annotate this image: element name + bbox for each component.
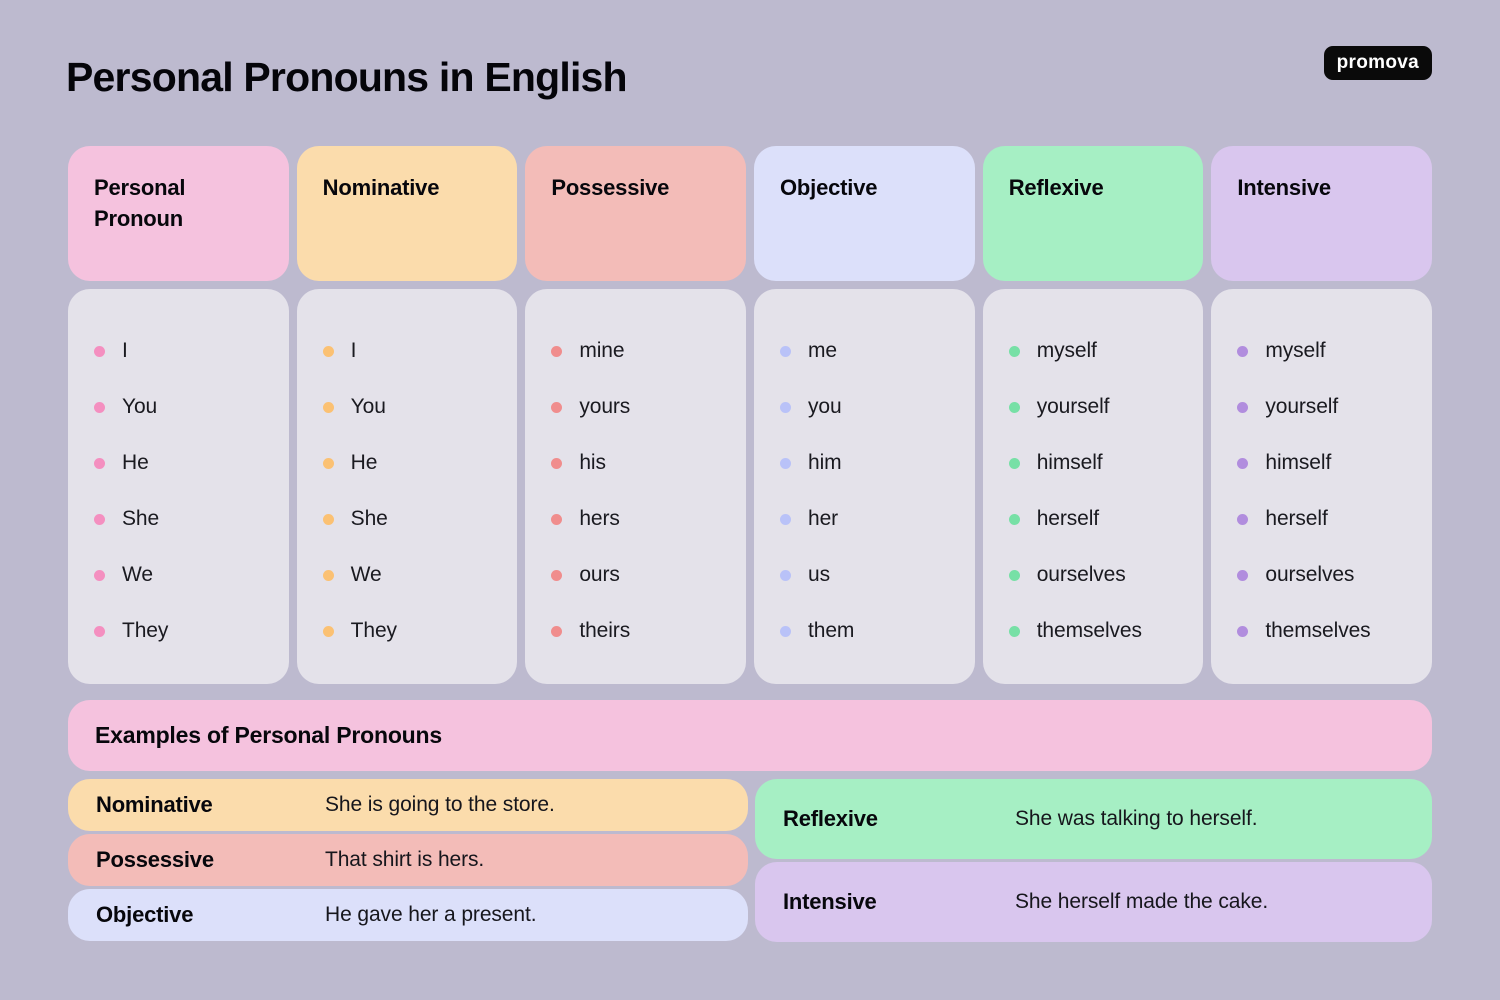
pronoun-label: themselves: [1265, 619, 1370, 643]
examples-column-left: NominativeShe is going to the store.Poss…: [68, 779, 748, 941]
example-category-label: Intensive: [783, 889, 1015, 915]
column-body: IYouHeSheWeThey: [68, 289, 289, 684]
list-item: yourself: [1009, 379, 1204, 435]
table-column: Possessivemineyourshishersourstheirs: [525, 146, 746, 684]
list-item: herself: [1009, 491, 1204, 547]
pronoun-label: himself: [1037, 451, 1103, 475]
bullet-dot-icon: [551, 402, 562, 413]
pronoun-label: him: [808, 451, 842, 475]
example-sentence: She was talking to herself.: [1015, 807, 1257, 831]
bullet-dot-icon: [323, 570, 334, 581]
pronoun-label: me: [808, 339, 837, 363]
example-row: PossessiveThat shirt is hers.: [68, 834, 748, 886]
bullet-dot-icon: [1237, 570, 1248, 581]
bullet-dot-icon: [1237, 402, 1248, 413]
column-body: myselfyourselfhimselfherselfourselvesthe…: [1211, 289, 1432, 684]
bullet-dot-icon: [1009, 402, 1020, 413]
list-item: ourselves: [1009, 547, 1204, 603]
bullet-dot-icon: [780, 626, 791, 637]
list-item: hers: [551, 491, 746, 547]
list-item: me: [780, 323, 975, 379]
pronoun-label: yours: [579, 395, 630, 419]
example-row: ReflexiveShe was talking to herself.: [755, 779, 1432, 859]
bullet-dot-icon: [94, 570, 105, 581]
pronoun-table: Personal PronounIYouHeSheWeTheyNominativ…: [68, 146, 1432, 684]
list-item: mine: [551, 323, 746, 379]
bullet-dot-icon: [551, 570, 562, 581]
list-item: themselves: [1237, 603, 1432, 659]
pronoun-label: I: [351, 339, 357, 363]
bullet-dot-icon: [323, 458, 334, 469]
pronoun-label: He: [351, 451, 378, 475]
bullet-dot-icon: [94, 514, 105, 525]
example-row: IntensiveShe herself made the cake.: [755, 862, 1432, 942]
list-item: They: [323, 603, 518, 659]
pronoun-label: herself: [1037, 507, 1099, 531]
bullet-dot-icon: [323, 346, 334, 357]
pronoun-label: You: [122, 395, 157, 419]
examples-banner: Examples of Personal Pronouns: [68, 700, 1432, 771]
bullet-dot-icon: [94, 402, 105, 413]
list-item: You: [323, 379, 518, 435]
pronoun-label: himself: [1265, 451, 1331, 475]
list-item: myself: [1009, 323, 1204, 379]
list-item: I: [94, 323, 289, 379]
bullet-dot-icon: [94, 626, 105, 637]
page-title: Personal Pronouns in English: [66, 54, 627, 101]
bullet-dot-icon: [780, 514, 791, 525]
pronoun-label: yourself: [1037, 395, 1110, 419]
table-column: NominativeIYouHeSheWeThey: [297, 146, 518, 684]
example-category-label: Nominative: [96, 792, 325, 818]
pronoun-label: yourself: [1265, 395, 1338, 419]
bullet-dot-icon: [94, 458, 105, 469]
list-item: them: [780, 603, 975, 659]
list-item: her: [780, 491, 975, 547]
column-body: myselfyourselfhimselfherselfourselvesthe…: [983, 289, 1204, 684]
pronoun-label: you: [808, 395, 842, 419]
table-column: Reflexivemyselfyourselfhimselfherselfour…: [983, 146, 1204, 684]
column-header: Personal Pronoun: [68, 146, 289, 281]
table-column: Intensivemyselfyourselfhimselfherselfour…: [1211, 146, 1432, 684]
pronoun-label: hers: [579, 507, 619, 531]
list-item: They: [94, 603, 289, 659]
bullet-dot-icon: [1009, 458, 1020, 469]
example-sentence: She herself made the cake.: [1015, 890, 1268, 914]
list-item: yours: [551, 379, 746, 435]
bullet-dot-icon: [780, 402, 791, 413]
pronoun-label: theirs: [579, 619, 630, 643]
column-header: Intensive: [1211, 146, 1432, 281]
list-item: himself: [1009, 435, 1204, 491]
pronoun-label: They: [122, 619, 168, 643]
infographic-page: Personal Pronouns in English promova Per…: [0, 0, 1500, 1000]
promova-logo: promova: [1324, 46, 1432, 80]
column-body: IYouHeSheWeThey: [297, 289, 518, 684]
list-item: his: [551, 435, 746, 491]
list-item: herself: [1237, 491, 1432, 547]
bullet-dot-icon: [1009, 626, 1020, 637]
bullet-dot-icon: [323, 626, 334, 637]
pronoun-label: He: [122, 451, 149, 475]
list-item: We: [323, 547, 518, 603]
bullet-dot-icon: [1237, 626, 1248, 637]
list-item: themselves: [1009, 603, 1204, 659]
list-item: you: [780, 379, 975, 435]
list-item: We: [94, 547, 289, 603]
pronoun-label: myself: [1265, 339, 1325, 363]
bullet-dot-icon: [551, 346, 562, 357]
bullet-dot-icon: [323, 402, 334, 413]
list-item: You: [94, 379, 289, 435]
bullet-dot-icon: [780, 458, 791, 469]
list-item: myself: [1237, 323, 1432, 379]
pronoun-label: We: [351, 563, 382, 587]
list-item: I: [323, 323, 518, 379]
pronoun-label: mine: [579, 339, 624, 363]
example-category-label: Reflexive: [783, 806, 1015, 832]
example-category-label: Objective: [96, 902, 325, 928]
column-header: Possessive: [525, 146, 746, 281]
bullet-dot-icon: [1237, 346, 1248, 357]
pronoun-label: ourselves: [1265, 563, 1354, 587]
pronoun-label: herself: [1265, 507, 1327, 531]
bullet-dot-icon: [1009, 514, 1020, 525]
pronoun-label: She: [351, 507, 388, 531]
column-body: mineyourshishersourstheirs: [525, 289, 746, 684]
bullet-dot-icon: [780, 346, 791, 357]
bullet-dot-icon: [551, 458, 562, 469]
pronoun-label: her: [808, 507, 838, 531]
table-column: Personal PronounIYouHeSheWeThey: [68, 146, 289, 684]
column-body: meyouhimherusthem: [754, 289, 975, 684]
column-header: Nominative: [297, 146, 518, 281]
column-header: Objective: [754, 146, 975, 281]
bullet-dot-icon: [1237, 458, 1248, 469]
list-item: He: [323, 435, 518, 491]
bullet-dot-icon: [1009, 346, 1020, 357]
pronoun-label: We: [122, 563, 153, 587]
pronoun-label: I: [122, 339, 128, 363]
example-sentence: He gave her a present.: [325, 903, 536, 927]
bullet-dot-icon: [1237, 514, 1248, 525]
example-sentence: She is going to the store.: [325, 793, 555, 817]
bullet-dot-icon: [551, 514, 562, 525]
bullet-dot-icon: [1009, 570, 1020, 581]
pronoun-label: his: [579, 451, 606, 475]
list-item: theirs: [551, 603, 746, 659]
pronoun-label: them: [808, 619, 854, 643]
list-item: us: [780, 547, 975, 603]
pronoun-label: ourselves: [1037, 563, 1126, 587]
pronoun-label: ours: [579, 563, 619, 587]
list-item: He: [94, 435, 289, 491]
bullet-dot-icon: [780, 570, 791, 581]
example-row: ObjectiveHe gave her a present.: [68, 889, 748, 941]
pronoun-label: She: [122, 507, 159, 531]
pronoun-label: They: [351, 619, 397, 643]
bullet-dot-icon: [323, 514, 334, 525]
list-item: ourselves: [1237, 547, 1432, 603]
list-item: himself: [1237, 435, 1432, 491]
list-item: yourself: [1237, 379, 1432, 435]
example-sentence: That shirt is hers.: [325, 848, 484, 872]
examples-column-right: ReflexiveShe was talking to herself.Inte…: [755, 779, 1432, 942]
pronoun-label: myself: [1037, 339, 1097, 363]
example-category-label: Possessive: [96, 847, 325, 873]
bullet-dot-icon: [94, 346, 105, 357]
column-header: Reflexive: [983, 146, 1204, 281]
pronoun-label: themselves: [1037, 619, 1142, 643]
list-item: ours: [551, 547, 746, 603]
list-item: She: [323, 491, 518, 547]
bullet-dot-icon: [551, 626, 562, 637]
pronoun-label: us: [808, 563, 830, 587]
example-row: NominativeShe is going to the store.: [68, 779, 748, 831]
list-item: She: [94, 491, 289, 547]
table-column: Objectivemeyouhimherusthem: [754, 146, 975, 684]
list-item: him: [780, 435, 975, 491]
pronoun-label: You: [351, 395, 386, 419]
